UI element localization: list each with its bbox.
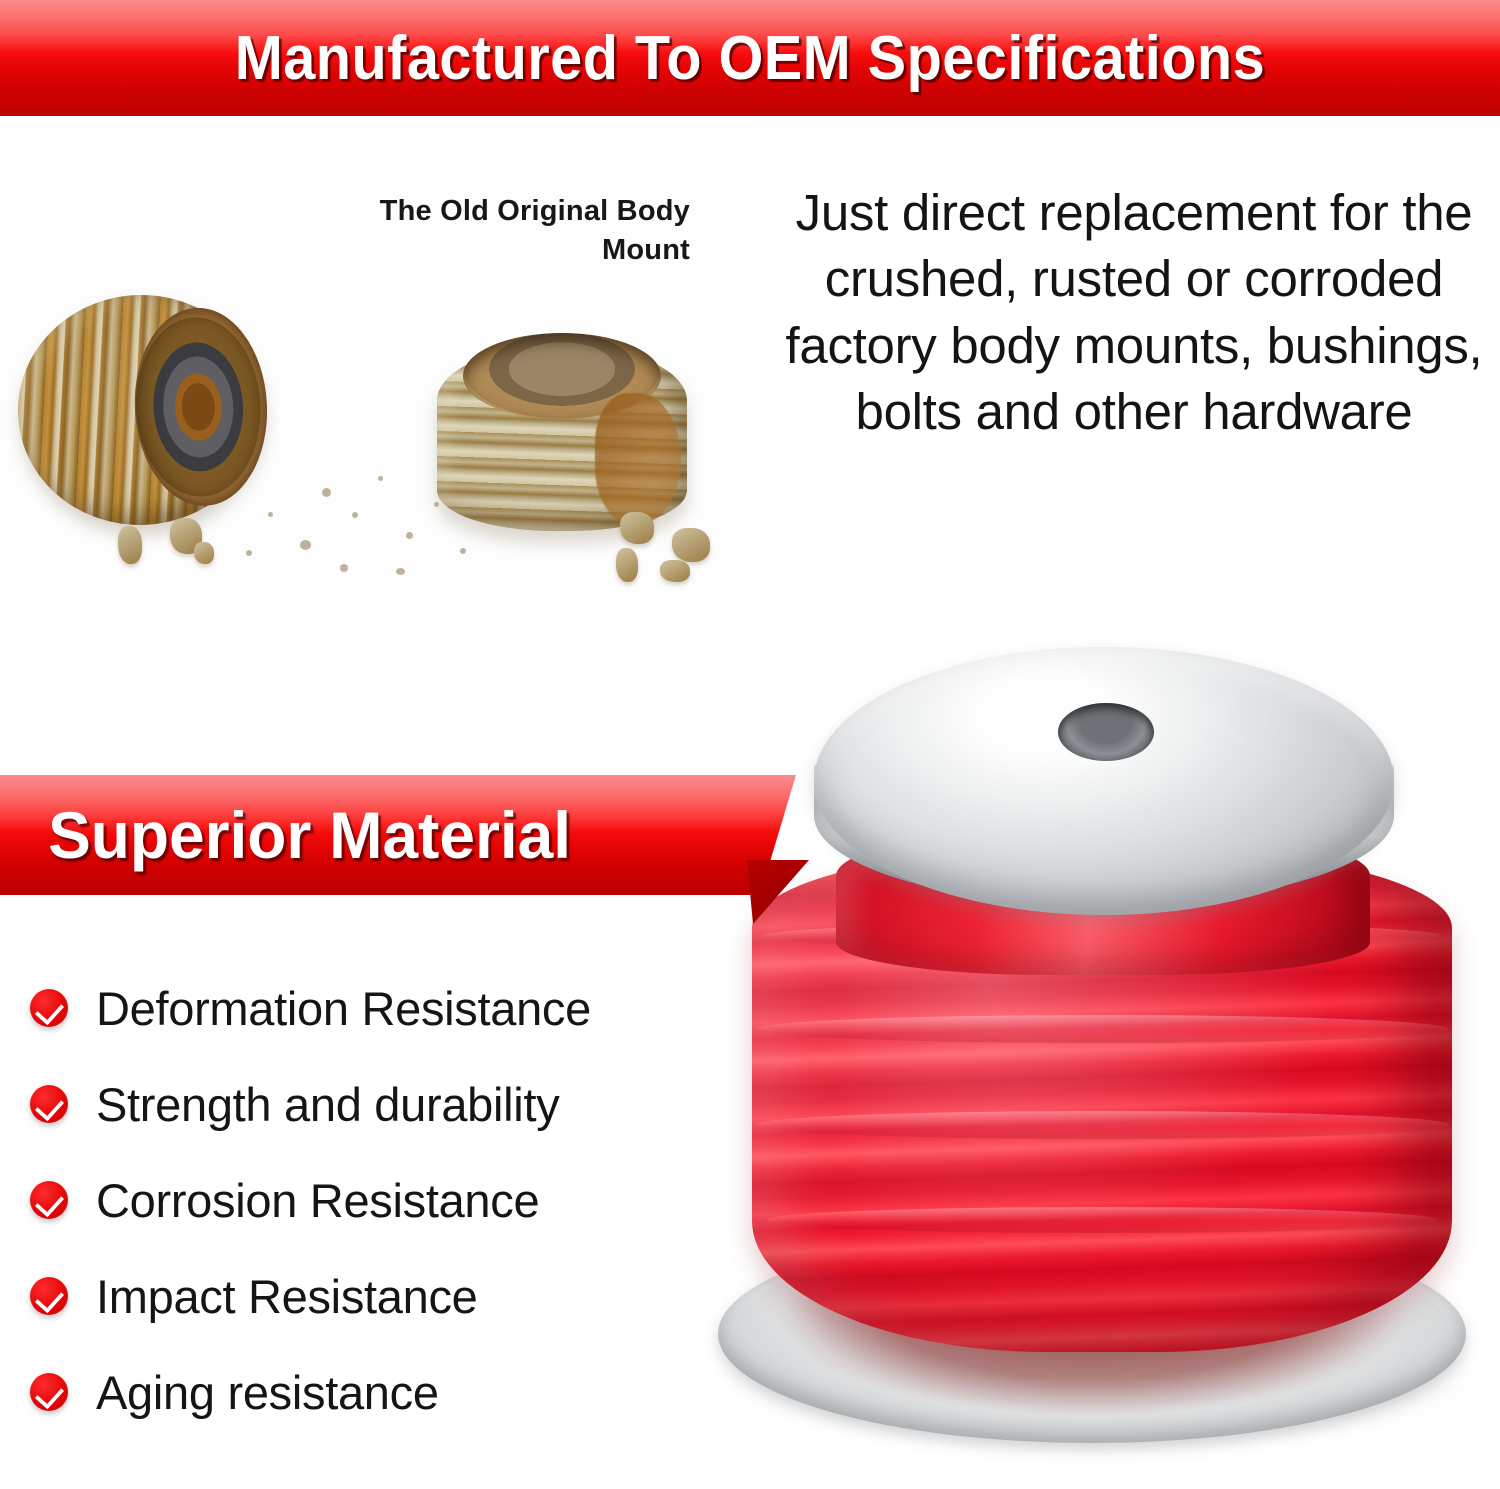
debris-speck: [268, 512, 273, 517]
metal-dome-cap: [814, 647, 1394, 915]
corroded-mount-large: [12, 289, 269, 532]
check-circle-icon: [30, 1181, 68, 1219]
debris-speck: [434, 502, 439, 507]
check-circle-icon: [30, 1373, 68, 1411]
check-circle-icon: [30, 989, 68, 1027]
debris-speck: [406, 532, 413, 539]
debris-crumb: [616, 548, 638, 582]
check-circle-icon: [30, 1085, 68, 1123]
list-item: Corrosion Resistance: [30, 1152, 730, 1248]
debris-crumb: [620, 512, 654, 544]
old-mount-caption: The Old Original Body Mount: [360, 192, 690, 269]
replacement-description: Just direct replacement for the crushed,…: [778, 180, 1490, 445]
debris-crumb: [118, 526, 142, 564]
check-circle-icon: [30, 1277, 68, 1315]
debris-speck: [246, 550, 252, 556]
feature-label: Corrosion Resistance: [96, 1177, 539, 1224]
superior-material-title: Superior Material: [48, 797, 571, 873]
center-bolt-hole: [1058, 703, 1154, 761]
mount-bolt-holes: [130, 305, 272, 510]
oem-specifications-banner: Manufactured To OEM Specifications: [0, 0, 1500, 116]
debris-crumb: [194, 542, 214, 564]
banner-title: Manufactured To OEM Specifications: [235, 23, 1265, 94]
list-item: Impact Resistance: [30, 1248, 730, 1344]
debris-speck: [340, 564, 348, 572]
feature-label: Aging resistance: [96, 1369, 439, 1416]
feature-list: Deformation Resistance Strength and dura…: [30, 960, 730, 1440]
feature-label: Deformation Resistance: [96, 985, 591, 1032]
list-item: Strength and durability: [30, 1056, 730, 1152]
debris-speck: [322, 488, 331, 497]
list-item: Deformation Resistance: [30, 960, 730, 1056]
poly-rib: [756, 1015, 1448, 1043]
superior-material-banner: Superior Material: [0, 775, 796, 895]
debris-speck: [300, 540, 311, 550]
debris-speck: [396, 568, 405, 575]
feature-label: Strength and durability: [96, 1081, 559, 1128]
corroded-mount-cup: [437, 345, 687, 531]
feature-label: Impact Resistance: [96, 1273, 478, 1320]
list-item: Aging resistance: [30, 1344, 730, 1440]
debris-crumb: [660, 560, 690, 582]
debris-crumb: [672, 528, 710, 562]
debris-speck: [352, 512, 358, 518]
debris-speck: [378, 476, 383, 481]
red-body-mount-product-photo: [690, 625, 1500, 1489]
debris-speck: [460, 548, 466, 554]
old-body-mount-photo: The Old Original Body Mount: [0, 120, 752, 622]
poly-rib: [754, 1111, 1450, 1139]
poly-rib: [766, 1207, 1438, 1233]
